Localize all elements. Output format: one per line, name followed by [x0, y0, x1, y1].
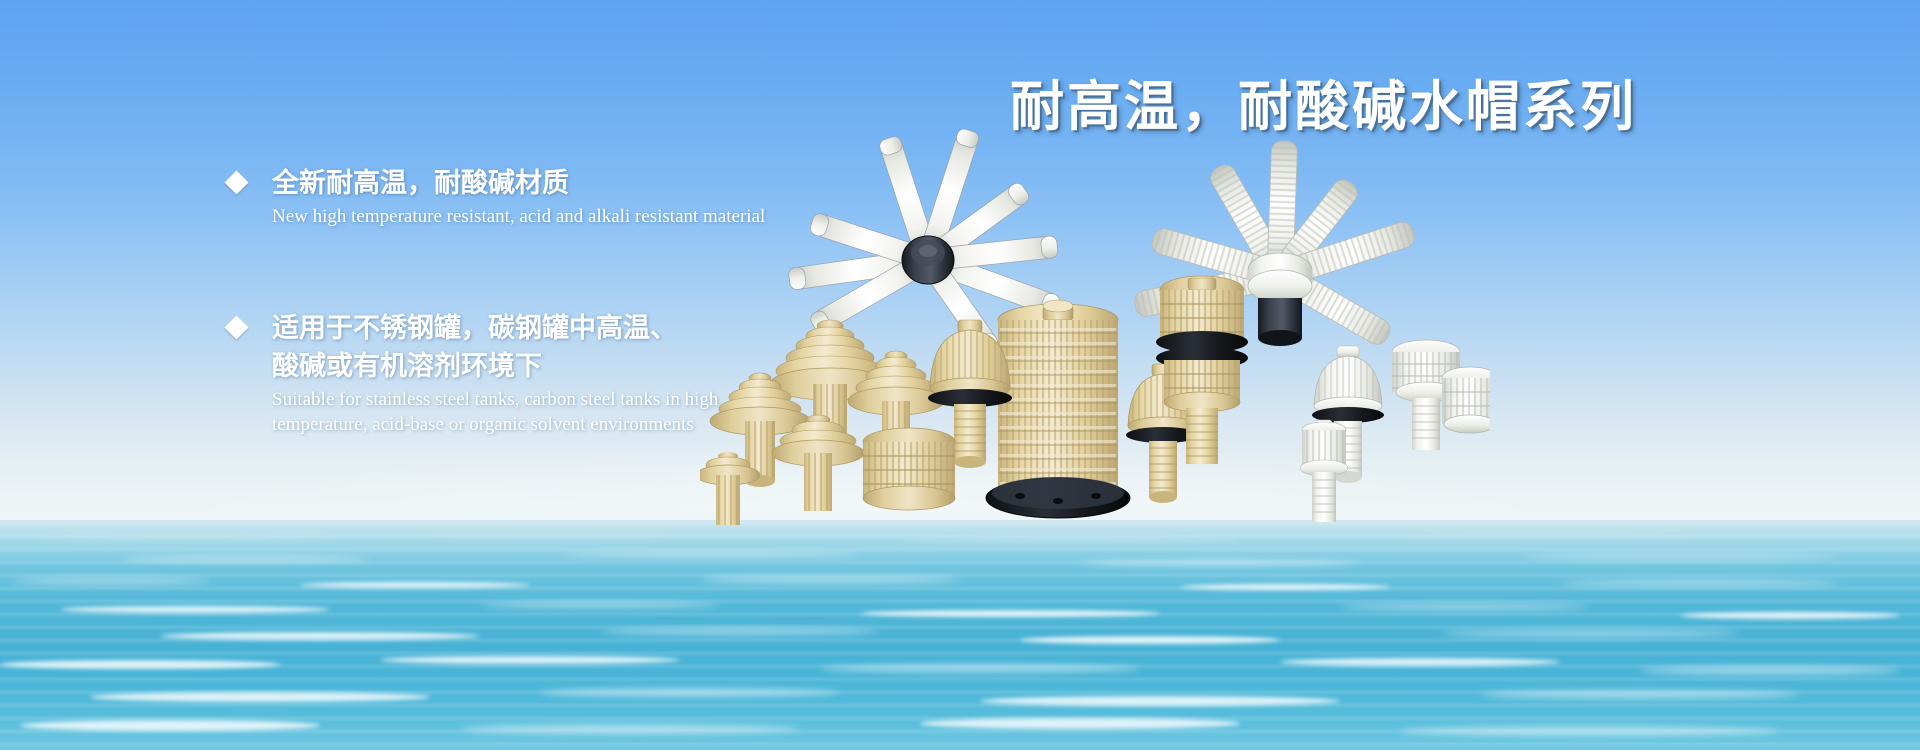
product-white-small-cap — [1300, 420, 1348, 522]
diamond-icon — [224, 315, 248, 339]
product-white-column — [1442, 367, 1490, 433]
feature-2-en-line-1: Suitable for stainless steel tanks, carb… — [272, 388, 718, 411]
feature-1-cn-line-1: 全新耐高温，耐酸碱材质 — [272, 165, 765, 203]
product-short-drum — [863, 428, 955, 510]
feature-1-en-line-1: New high temperature resistant, acid and… — [272, 205, 765, 228]
water-background — [0, 520, 1920, 750]
product-cluster-image — [700, 120, 1490, 550]
feature-item-2: 适用于不锈钢罐，碳钢罐中高温、 酸碱或有机溶剂环境下 Suitable for … — [228, 310, 718, 436]
feature-2-cn-line-2: 酸碱或有机溶剂环境下 — [272, 348, 718, 386]
product-stacked-disc-strainer — [986, 300, 1130, 518]
diamond-icon — [224, 170, 248, 194]
feature-2-en-line-2: temperature, acid-base or organic solven… — [272, 413, 718, 436]
promo-banner: 耐高温，耐酸碱水帽系列 全新耐高温，耐酸碱材质 New high tempera… — [0, 0, 1920, 750]
feature-2-cn-line-1: 适用于不锈钢罐，碳钢罐中高温、 — [272, 310, 718, 348]
feature-item-1: 全新耐高温，耐酸碱材质 New high temperature resista… — [228, 165, 765, 228]
